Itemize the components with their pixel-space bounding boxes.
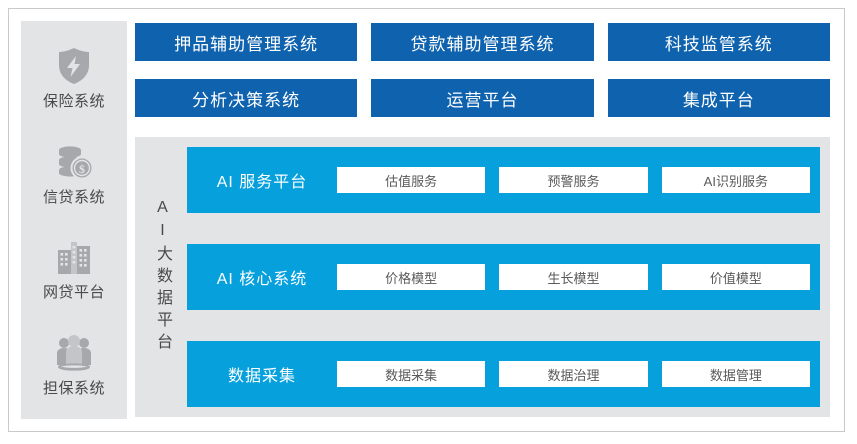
chip-data-management[interactable]: 数据管理 xyxy=(662,361,810,387)
ai-bigdata-platform-panel: AI大数据平台 AI 服务平台 估值服务 预警服务 AI识别服务 AI 核心系统 xyxy=(135,137,830,417)
people-group-icon xyxy=(52,331,96,375)
system-bar-integration-platform[interactable]: 集成平台 xyxy=(608,79,830,117)
sidebar-item-guarantee[interactable]: 担保系统 xyxy=(43,331,105,396)
chip-ai-recognition-service[interactable]: AI识别服务 xyxy=(662,167,810,193)
sidebar-item-label: 信贷系统 xyxy=(43,190,105,205)
top-bar-row-1: 押品辅助管理系统 贷款辅助管理系统 科技监管系统 xyxy=(135,23,830,61)
platform-row-label: 数据采集 xyxy=(187,362,337,386)
sidebar-item-credit[interactable]: $ 信贷系统 xyxy=(43,140,105,205)
system-bar-tech-supervision[interactable]: 科技监管系统 xyxy=(608,23,830,61)
platform-row-items: 数据采集 数据治理 数据管理 xyxy=(337,361,810,387)
platform-rows: AI 服务平台 估值服务 预警服务 AI识别服务 AI 核心系统 价格模型 生长… xyxy=(187,147,820,407)
svg-text:$: $ xyxy=(79,162,85,176)
platform-row-items: 价格模型 生长模型 价值模型 xyxy=(337,264,810,290)
chip-growth-model[interactable]: 生长模型 xyxy=(499,264,647,290)
sidebar: 保险系统 $ xyxy=(21,21,127,419)
sidebar-item-label: 网贷平台 xyxy=(43,285,105,300)
system-bar-loan-management[interactable]: 贷款辅助管理系统 xyxy=(371,23,593,61)
system-bar-collateral-management[interactable]: 押品辅助管理系统 xyxy=(135,23,357,61)
chip-data-collection[interactable]: 数据采集 xyxy=(337,361,485,387)
system-bar-operations-platform[interactable]: 运营平台 xyxy=(371,79,593,117)
platform-row-label: AI 核心系统 xyxy=(187,265,337,289)
sidebar-item-online-loan[interactable]: 网贷平台 xyxy=(43,235,105,300)
chip-value-model[interactable]: 价值模型 xyxy=(662,264,810,290)
top-bar-row-2: 分析决策系统 运营平台 集成平台 xyxy=(135,79,830,117)
chip-early-warning-service[interactable]: 预警服务 xyxy=(499,167,647,193)
platform-vertical-label: AI大数据平台 xyxy=(145,147,179,407)
system-bar-analysis-decision[interactable]: 分析决策系统 xyxy=(135,79,357,117)
platform-row-ai-service: AI 服务平台 估值服务 预警服务 AI识别服务 xyxy=(187,147,820,213)
platform-vertical-label-text: AI大数据平台 xyxy=(154,199,170,355)
platform-row-data-collection: 数据采集 数据采集 数据治理 数据管理 xyxy=(187,341,820,407)
platform-row-label: AI 服务平台 xyxy=(187,168,337,192)
diagram-frame: 保险系统 $ xyxy=(8,8,845,432)
platform-row-ai-core: AI 核心系统 价格模型 生长模型 价值模型 xyxy=(187,244,820,310)
shield-bolt-icon xyxy=(52,44,96,88)
sidebar-item-label: 保险系统 xyxy=(43,94,105,109)
diagram-layout: 保险系统 $ xyxy=(9,9,844,431)
sidebar-item-insurance[interactable]: 保险系统 xyxy=(43,44,105,109)
sidebar-item-label: 担保系统 xyxy=(43,381,105,396)
chip-data-governance[interactable]: 数据治理 xyxy=(499,361,647,387)
main-content: 押品辅助管理系统 贷款辅助管理系统 科技监管系统 分析决策系统 运营平台 集成平… xyxy=(127,9,844,431)
buildings-icon xyxy=(52,235,96,279)
coins-dollar-icon: $ xyxy=(52,140,96,184)
platform-row-items: 估值服务 预警服务 AI识别服务 xyxy=(337,167,810,193)
chip-price-model[interactable]: 价格模型 xyxy=(337,264,485,290)
chip-valuation-service[interactable]: 估值服务 xyxy=(337,167,485,193)
